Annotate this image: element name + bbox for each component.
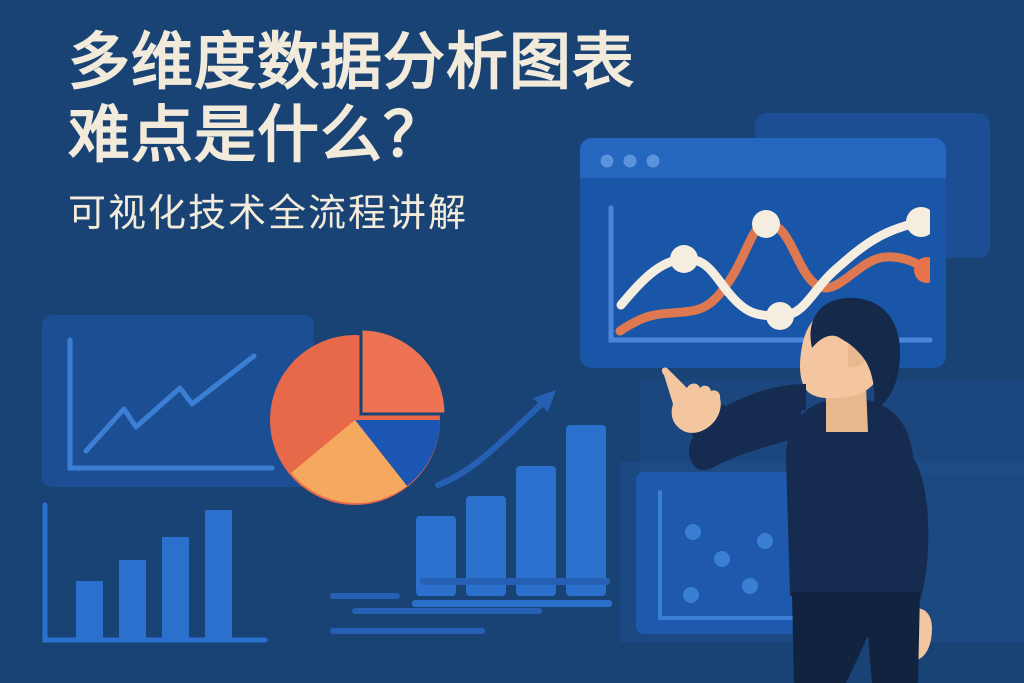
data-point-marker — [752, 210, 780, 238]
bar-item — [516, 466, 556, 596]
window-dot-icon[interactable] — [647, 155, 660, 168]
decor-line — [330, 628, 485, 634]
growth-bar-baseline — [412, 600, 612, 607]
decor-line — [330, 593, 400, 599]
data-point-marker — [766, 302, 794, 330]
bar-item — [162, 537, 189, 640]
page-title-line-1: 多维度数据分析图表 — [68, 26, 628, 99]
scatter-point — [742, 578, 758, 594]
bar-item — [566, 425, 606, 596]
scatter-plot-card — [636, 472, 808, 634]
decor-line — [420, 578, 610, 585]
scatter-point — [685, 524, 701, 540]
scatter-point — [757, 533, 773, 549]
bar-item — [76, 581, 103, 640]
bar-item — [119, 560, 146, 640]
headline-block: 多维度数据分析图表 难点是什么？ 可视化技术全流程讲解 — [68, 26, 628, 240]
decor-line — [352, 608, 542, 614]
scatter-point — [714, 551, 730, 567]
data-point-marker — [670, 245, 698, 273]
page-subtitle: 可视化技术全流程讲解 — [68, 190, 628, 239]
bar-item — [205, 510, 232, 640]
scatter-point — [683, 587, 699, 603]
page-title-line-2: 难点是什么？ — [68, 99, 628, 172]
poster-canvas: 多维度数据分析图表 难点是什么？ 可视化技术全流程讲解 — [0, 0, 1024, 683]
